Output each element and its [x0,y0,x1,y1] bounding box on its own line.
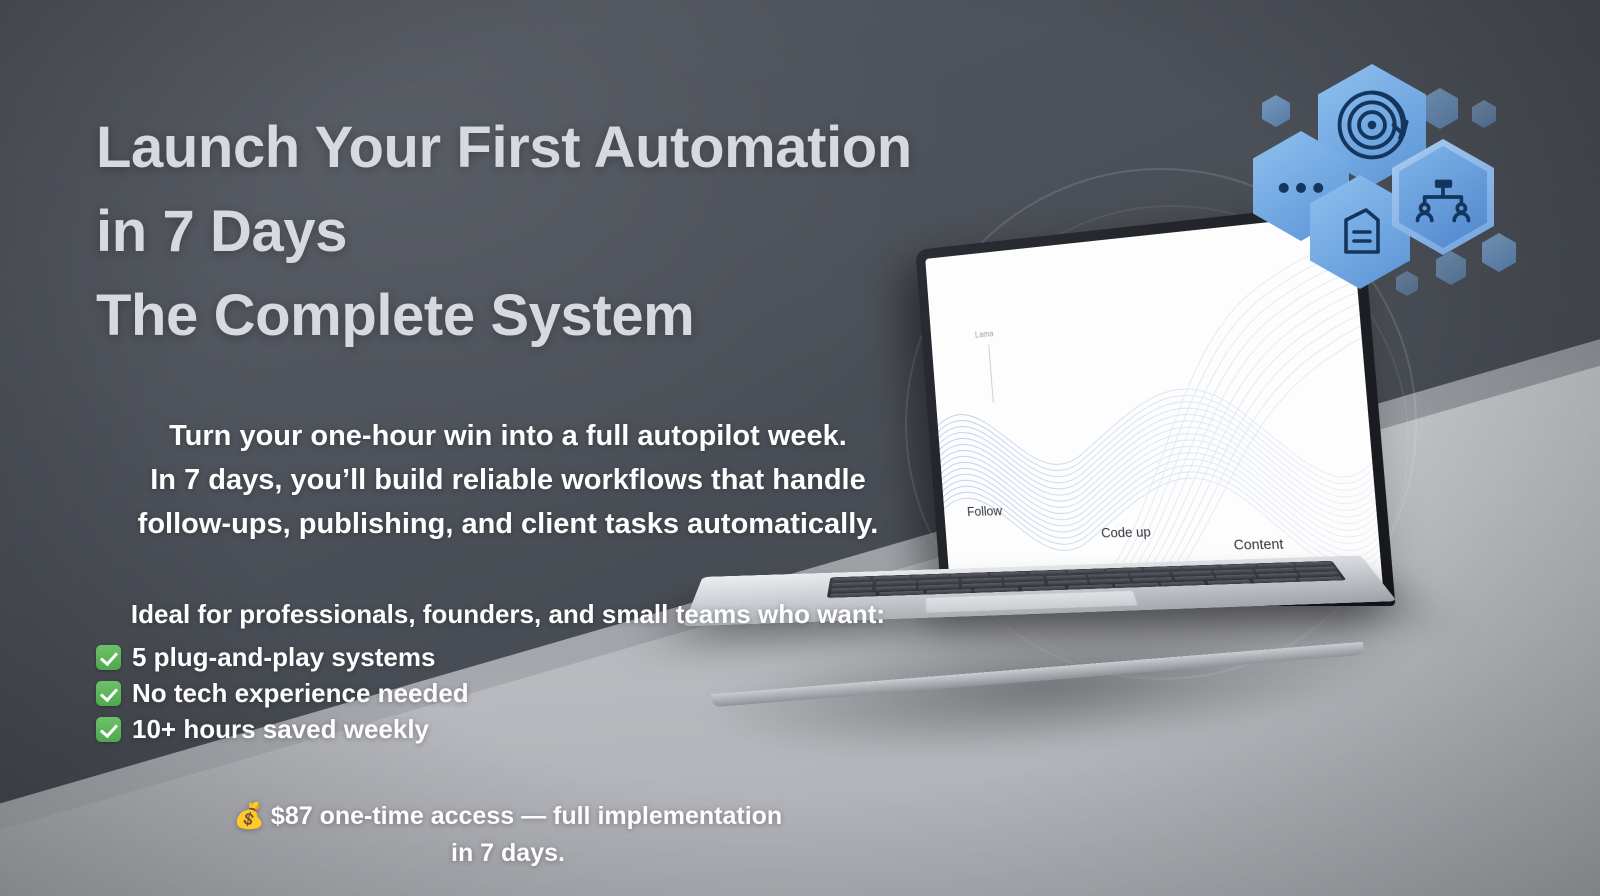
lede-line-2: In 7 days, you’ll build reliable workflo… [96,458,920,502]
headline-line-1: Launch Your First Automation in 7 Days [96,115,912,264]
headline-line-2: The Complete System [96,274,920,358]
price-line-2: in 7 days. [96,835,920,873]
benefit-list: 5 plug-and-play systems No tech experien… [96,630,920,748]
price-line-1: $87 one-time access — full implementatio… [271,802,782,830]
list-item: No tech experience needed [96,676,920,712]
accent-hexagon-small [1262,95,1290,127]
check-mark-icon [96,681,121,706]
copy-block: Launch Your First Automation in 7 Days T… [0,0,960,873]
accent-hexagon-small [1482,233,1516,272]
lede-line-3: follow-ups, publishing, and client tasks… [96,502,920,546]
accent-hexagon-small [1436,251,1466,285]
list-item: 5 plug-and-play systems [96,640,920,676]
wave-label-code-up: Code up [1101,524,1152,540]
list-item: 10+ hours saved weekly [96,712,920,748]
wave-label-follow: Follow [967,503,1003,519]
lede-paragraph: Turn your one-hour win into a full autop… [96,358,920,546]
lede-line-1: Turn your one-hour win into a full autop… [96,414,920,458]
benefit-label: No tech experience needed [132,678,469,709]
accent-hexagon-small [1396,271,1418,296]
wave-label-content: Content [1233,536,1285,553]
price-statement: 💰$87 one-time access — full implementati… [96,748,920,873]
ideal-for-heading: Ideal for professionals, founders, and s… [96,547,920,630]
page-title: Launch Your First Automation in 7 Days T… [96,0,920,358]
promo-hero-banner: Follow Code up Content Lama [0,0,1600,896]
money-bag-icon: 💰 [234,802,265,830]
benefit-label: 5 plug-and-play systems [132,642,435,673]
accent-hexagon-small [1422,88,1458,129]
wave-axis-label: Lama [975,329,995,340]
check-mark-icon [96,717,121,742]
hexagon-icon-cluster [1240,55,1570,305]
accent-hexagon-small [1472,100,1496,128]
check-mark-icon [96,645,121,670]
benefit-label: 10+ hours saved weekly [132,714,429,745]
